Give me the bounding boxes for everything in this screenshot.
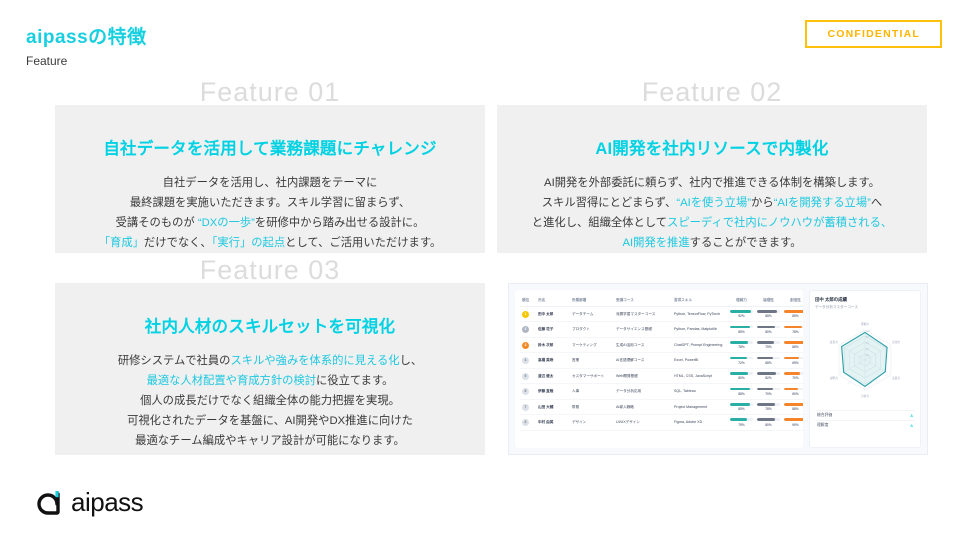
radar-chart-title: 田中 太郎の成績 [815, 297, 915, 303]
metric-bar [757, 310, 780, 313]
metric-cell: 75% [728, 415, 755, 430]
column-header[interactable]: 理解力 [728, 296, 755, 307]
column-header[interactable]: 氏名 [536, 296, 570, 307]
table-row[interactable]: 1田中 太郎データチーム深層学習マスターコースPython, TensorFlo… [520, 307, 803, 322]
metric-value: 89% [730, 330, 753, 334]
svg-text:改善力: 改善力 [830, 340, 838, 344]
metric-cell: 70% [782, 368, 803, 383]
column-header[interactable]: 論理性 [755, 296, 782, 307]
member-department: プロダクト [570, 322, 614, 337]
metric-cell: 78% [755, 399, 782, 414]
metric-bar [730, 388, 753, 391]
feature-kicker: Feature 02 [497, 77, 927, 108]
metric-value: 80% [730, 376, 753, 380]
metric-cell: 88% [782, 337, 803, 352]
skill-visualization-screenshot: 順位氏名所属部署受講コース習得スキル理解力論理性創造性文章力 1田中 太郎データ… [508, 283, 928, 455]
metric-bar [730, 326, 753, 329]
column-header[interactable]: 所属部署 [570, 296, 614, 307]
metric-bar [784, 372, 803, 375]
rating-grade: A [910, 424, 913, 428]
metric-bar [757, 403, 780, 406]
footer-logo: aipass [34, 487, 143, 518]
table-row[interactable]: 8中村 由美デザインUI/UXデザインFigma, Adobe XD75%80%… [520, 415, 803, 430]
column-header[interactable]: 習得スキル [672, 296, 728, 307]
member-department: 営業 [570, 353, 614, 368]
metric-bar [757, 357, 780, 360]
feature-body-line: 自社データを活用し、社内課題をテーマに [55, 173, 485, 193]
member-course: 深層学習マスターコース [614, 307, 672, 322]
metric-value: 90% [784, 423, 803, 427]
metric-cell: 80% [728, 368, 755, 383]
metric-cell: 60% [782, 384, 803, 399]
member-course: Web開発基礎 [614, 368, 672, 383]
metric-value: 70% [757, 392, 780, 396]
member-name: 山田 大輔 [536, 399, 570, 414]
metric-cell: 92% [728, 307, 755, 322]
skill-ranking-table-panel: 順位氏名所属部署受講コース習得スキル理解力論理性創造性文章力 1田中 太郎データ… [515, 290, 803, 448]
rank-badge: 2 [522, 326, 529, 333]
radar-chart-figure: 理解力応用力実装力分析力説明力改善力10080604020 [815, 312, 915, 408]
metric-bar [730, 341, 753, 344]
metric-bar [757, 418, 780, 421]
table-row[interactable]: 4高橋 美咲営業AI言語理解コースExcel, PowerBI72%68%65%… [520, 353, 803, 368]
feature-card-03: Feature 03 社内人材のスキルセットを可視化 研修システムで社員のスキル… [55, 283, 485, 455]
feature-heading: 社内人材のスキルセットを可視化 [55, 313, 485, 337]
table-body: 1田中 太郎データチーム深層学習マスターコースPython, TensorFlo… [520, 307, 803, 431]
metric-bar [730, 403, 753, 406]
rank-badge: 4 [522, 357, 529, 364]
metric-value: 88% [757, 314, 780, 318]
metric-value: 80% [757, 423, 780, 427]
feature-body-line: 最適なチーム編成やキャリア設計が可能になります。 [55, 431, 485, 451]
metric-value: 88% [730, 392, 753, 396]
metric-value: 88% [784, 407, 803, 411]
member-name: 高橋 美咲 [536, 353, 570, 368]
radar-rating-list: 総合評価A理解度A [815, 410, 915, 428]
svg-text:実装力: 実装力 [892, 376, 900, 380]
metric-bar [784, 357, 803, 360]
metric-bar [730, 418, 753, 421]
radar-chart-course: データ分析マスターコース [815, 305, 915, 310]
rank-badge: 8 [522, 419, 529, 426]
feature-heading: AI開発を社内リソースで内製化 [497, 135, 927, 159]
member-name: 中村 由美 [536, 415, 570, 430]
member-skills: SQL, Tableau [672, 384, 728, 399]
metric-bar [730, 357, 753, 360]
rating-row: 総合評価A [815, 410, 915, 418]
metric-cell: 88% [728, 384, 755, 399]
metric-bar [784, 341, 803, 344]
feature-body-line: 最適な人材配置や育成方針の検討に役立てます。 [55, 371, 485, 391]
feature-body: 自社データを活用し、社内課題をテーマに最終課題を実施いただきます。スキル学習に留… [55, 173, 485, 253]
metric-cell: 72% [728, 353, 755, 368]
feature-kicker: Feature 03 [55, 255, 485, 286]
member-skills: ChatGPT, Prompt Engineering [672, 337, 728, 352]
metric-cell: 82% [755, 368, 782, 383]
member-name: 佐藤 花子 [536, 322, 570, 337]
confidential-badge: CONFIDENTIAL [805, 20, 942, 48]
metric-value: 80% [757, 330, 780, 334]
metric-cell: 68% [755, 353, 782, 368]
page-subtitle: Feature [26, 54, 67, 68]
metric-value: 92% [730, 314, 753, 318]
metric-cell: 88% [755, 307, 782, 322]
feature-kicker: Feature 01 [55, 77, 485, 108]
feature-body-line: 個人の成長だけでなく組織全体の能力把握を実現。 [55, 391, 485, 411]
svg-text:100: 100 [866, 330, 871, 333]
radar-chart-svg: 理解力応用力実装力分析力説明力改善力10080604020 [815, 312, 915, 408]
metric-cell: 75% [755, 337, 782, 352]
member-name: 鈴木 次郎 [536, 337, 570, 352]
page-title: aipassの特徴 [26, 22, 147, 49]
metric-cell: 70% [755, 384, 782, 399]
feature-card-01: Feature 01 自社データを活用して業務課題にチャレンジ 自社データを活用… [55, 105, 485, 253]
member-name: 渡辺 健太 [536, 368, 570, 383]
table-row[interactable]: 5渡辺 健太カスタマーサポートWeb開発基礎HTML, CSS, JavaScr… [520, 368, 803, 383]
feature-body-line: 「育成」だけでなく、「実行」の起点として、ご活用いただけます。 [55, 233, 485, 253]
metric-bar [784, 310, 803, 313]
svg-text:説明力: 説明力 [830, 376, 838, 380]
rank-badge: 6 [522, 388, 529, 395]
skill-ranking-table: 順位氏名所属部署受講コース習得スキル理解力論理性創造性文章力 1田中 太郎データ… [520, 296, 803, 431]
member-department: デザイン [570, 415, 614, 430]
metric-value: 78% [730, 345, 753, 349]
member-skills: Python, Pandas, Matplotlib [672, 322, 728, 337]
metric-cell: 85% [728, 399, 755, 414]
rank-badge: 5 [522, 373, 529, 380]
feature-body-line: AI開発を外部委託に頼らず、社内で推進できる体制を構築します。 [497, 173, 927, 193]
column-header[interactable]: 創造性 [782, 296, 803, 307]
member-name: 田中 太郎 [536, 307, 570, 322]
metric-value: 78% [784, 330, 803, 334]
metric-value: 72% [730, 361, 753, 365]
svg-text:理解力: 理解力 [861, 322, 869, 326]
metric-cell: 88% [782, 399, 803, 414]
member-department: 人事 [570, 384, 614, 399]
member-course: データサイエンス基礎 [614, 322, 672, 337]
feature-body-line: AI開発を推進することができます。 [497, 233, 927, 253]
feature-body-line: 最終課題を実施いただきます。スキル学習に留まらず、 [55, 193, 485, 213]
feature-body-line: と進化し、組織全体としてスピーディで社内にノウハウが蓄積される、 [497, 213, 927, 233]
metric-bar [757, 341, 780, 344]
radar-chart-panel: 田中 太郎の成績 データ分析マスターコース 理解力応用力実装力分析力説明力改善力… [809, 290, 921, 448]
member-course: AI言語理解コース [614, 353, 672, 368]
feature-body-line: スキル習得にとどまらず、“AIを使う立場”から“AIを開発する立場”へ [497, 193, 927, 213]
table-row[interactable]: 3鈴木 次郎マーケティング生成AI活用コースChatGPT, Prompt En… [520, 337, 803, 352]
table-row[interactable]: 2佐藤 花子プロダクトデータサイエンス基礎Python, Pandas, Mat… [520, 322, 803, 337]
column-header[interactable]: 受講コース [614, 296, 672, 307]
aipass-wordmark: aipass [71, 487, 143, 518]
metric-value: 70% [784, 376, 803, 380]
member-skills: Python, TensorFlow, PyTorch [672, 307, 728, 322]
member-course: AI導入戦略 [614, 399, 672, 414]
svg-text:分析力: 分析力 [861, 394, 869, 398]
metric-value: 88% [784, 345, 803, 349]
table-row[interactable]: 7山田 大輔財務AI導入戦略Project Management85%78%88… [520, 399, 803, 414]
feature-body-line: 研修システムで社員のスキルや強みを体系的に見える化し、 [55, 351, 485, 371]
svg-text:応用力: 応用力 [892, 340, 900, 344]
metric-value: 82% [757, 376, 780, 380]
feature-card-02: Feature 02 AI開発を社内リソースで内製化 AI開発を外部委託に頼らず… [497, 105, 927, 253]
metric-cell: 80% [755, 415, 782, 430]
feature-body: 研修システムで社員のスキルや強みを体系的に見える化し、最適な人材配置や育成方針の… [55, 351, 485, 451]
metric-bar [757, 326, 780, 329]
member-department: 財務 [570, 399, 614, 414]
metric-value: 68% [757, 361, 780, 365]
metric-bar [784, 418, 803, 421]
metric-cell: 90% [782, 415, 803, 430]
metric-cell: 78% [728, 337, 755, 352]
rating-label: 総合評価 [817, 413, 832, 418]
metric-bar [730, 372, 753, 375]
metric-value: 78% [757, 407, 780, 411]
member-skills: Project Management [672, 399, 728, 414]
metric-cell: 85% [782, 307, 803, 322]
member-course: UI/UXデザイン [614, 415, 672, 430]
metric-value: 60% [784, 392, 803, 396]
metric-cell: 78% [782, 322, 803, 337]
metric-value: 85% [784, 314, 803, 318]
metric-cell: 89% [728, 322, 755, 337]
metric-bar [784, 326, 803, 329]
rank-badge: 7 [522, 404, 529, 411]
metric-bar [757, 372, 780, 375]
member-name: 伊藤 直哉 [536, 384, 570, 399]
rank-badge: 1 [522, 311, 529, 318]
metric-value: 75% [730, 423, 753, 427]
table-header-row: 順位氏名所属部署受講コース習得スキル理解力論理性創造性文章力 [520, 296, 803, 307]
member-skills: Excel, PowerBI [672, 353, 728, 368]
feature-heading: 自社データを活用して業務課題にチャレンジ [55, 135, 485, 159]
member-department: データチーム [570, 307, 614, 322]
metric-bar [730, 310, 753, 313]
aipass-mark-icon [34, 488, 64, 518]
rating-label: 理解度 [817, 423, 828, 428]
metric-cell: 65% [782, 353, 803, 368]
member-course: データ分析応用 [614, 384, 672, 399]
rating-grade: A [910, 414, 913, 418]
feature-body: AI開発を外部委託に頼らず、社内で推進できる体制を構築します。スキル習得にとどま… [497, 173, 927, 253]
member-department: カスタマーサポート [570, 368, 614, 383]
member-department: マーケティング [570, 337, 614, 352]
rank-badge: 3 [522, 342, 529, 349]
member-skills: Figma, Adobe XD [672, 415, 728, 430]
column-header[interactable]: 順位 [520, 296, 536, 307]
metric-bar [784, 403, 803, 406]
metric-value: 85% [730, 407, 753, 411]
metric-bar [784, 388, 803, 391]
member-skills: HTML, CSS, JavaScript [672, 368, 728, 383]
metric-value: 75% [757, 345, 780, 349]
member-course: 生成AI活用コース [614, 337, 672, 352]
metric-cell: 80% [755, 322, 782, 337]
feature-body-line: 可視化されたデータを基盤に、AI開発やDX推進に向けた [55, 411, 485, 431]
metric-value: 65% [784, 361, 803, 365]
metric-bar [757, 388, 780, 391]
feature-body-line: 受講そのものが “DXの一歩”を研修中から踏み出せる設計に。 [55, 213, 485, 233]
rating-row: 理解度A [815, 420, 915, 428]
table-row[interactable]: 6伊藤 直哉人事データ分析応用SQL, Tableau88%70%60%80% [520, 384, 803, 399]
